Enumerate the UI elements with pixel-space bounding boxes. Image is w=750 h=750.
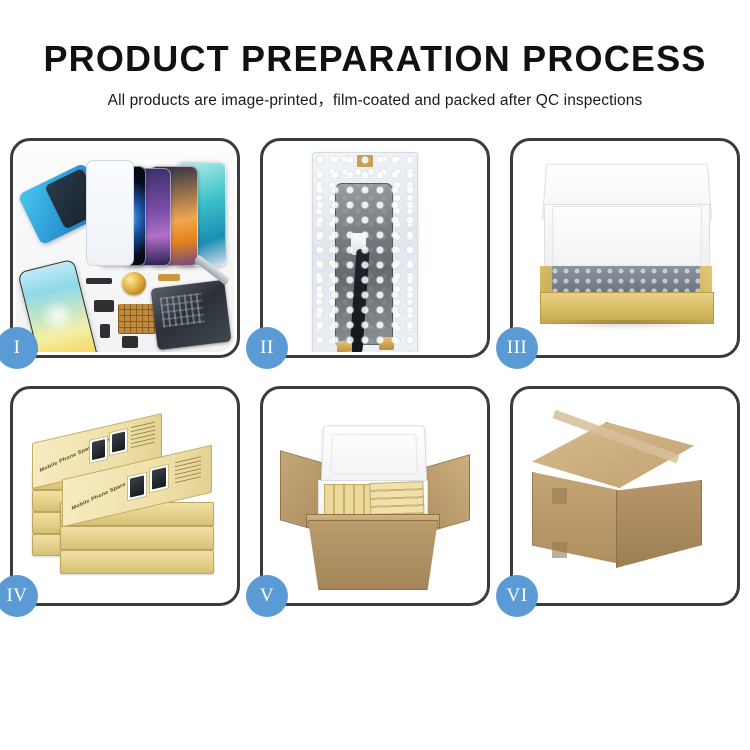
product-window (149, 464, 169, 494)
tempered-glass-icon (86, 160, 134, 266)
process-step-4[interactable]: Mobile Phone Spare Parts Mobile Phone Sp… (10, 386, 240, 606)
process-step-3[interactable]: III (510, 138, 740, 358)
gold-connector-icon (379, 337, 394, 350)
gold-connector-icon (337, 341, 352, 352)
spec-text-lines (175, 454, 201, 483)
page-subtitle: All products are image-printed，film-coat… (0, 88, 750, 110)
white-foam-sheet (552, 206, 702, 270)
step-2-badge: II (246, 327, 288, 369)
step-1-badge: I (0, 327, 38, 369)
carton-side-face (616, 480, 702, 568)
process-step-grid: I II III (10, 138, 742, 606)
process-step-2[interactable]: II (260, 138, 490, 358)
step-3-photo (516, 144, 734, 352)
chip-icon (86, 278, 112, 284)
chip-icon (94, 300, 114, 312)
step-1-photo (16, 144, 234, 352)
step-3-badge: III (496, 327, 538, 369)
retail-box-stack: Mobile Phone Spare Parts Mobile Phone Sp… (26, 410, 232, 590)
process-step-1[interactable]: I (10, 138, 240, 358)
product-window (89, 435, 108, 463)
carton-tab (552, 488, 567, 504)
logic-board-icon (150, 280, 231, 351)
carton-body (308, 520, 438, 590)
retail-box (60, 550, 214, 574)
step-6-badge: VI (496, 575, 538, 617)
chip-icon (100, 324, 110, 338)
retail-box (60, 526, 214, 550)
chip-icon (122, 336, 138, 348)
gold-component-icon (122, 272, 146, 295)
step-5-photo (266, 392, 484, 600)
product-window (109, 428, 128, 456)
step-4-photo: Mobile Phone Spare Parts Mobile Phone Sp… (16, 392, 234, 600)
flex-cable-icon (158, 274, 180, 281)
process-step-6[interactable]: VI (510, 386, 740, 606)
carton-front-face (532, 472, 620, 564)
page-header: PRODUCT PREPARATION PROCESS All products… (0, 0, 750, 110)
process-step-5[interactable]: V (260, 386, 490, 606)
page-title: PRODUCT PREPARATION PROCESS (0, 40, 750, 78)
phone-screen-fan (88, 158, 234, 266)
connector-array-icon (118, 304, 156, 334)
product-window (127, 472, 147, 502)
bubble-wrap-bag (312, 152, 418, 352)
step-6-photo (516, 392, 734, 600)
styrofoam-lid (321, 425, 427, 484)
carton-tab (552, 542, 567, 558)
step-4-badge: IV (0, 575, 38, 617)
step-2-photo (266, 144, 484, 352)
box-shadow (542, 320, 712, 330)
step-5-badge: V (246, 575, 288, 617)
spec-text-lines (131, 421, 155, 449)
tape-strip-icon (357, 155, 373, 167)
